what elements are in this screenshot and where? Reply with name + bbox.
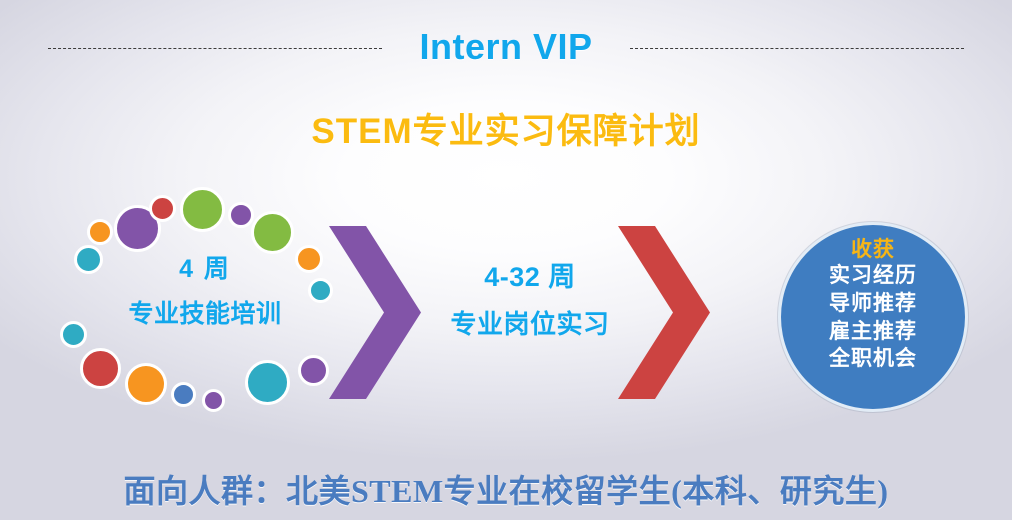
- decorative-dot: [60, 321, 87, 348]
- stage-internship-duration: 4-32 周: [430, 263, 630, 293]
- decorative-dot: [149, 195, 176, 222]
- outcome-circle: 收获 实习经历 导师推荐 雇主推荐 全职机会: [778, 222, 968, 412]
- decorative-dot: [298, 355, 329, 386]
- stage-training-description: 专业技能培训: [95, 301, 315, 329]
- outcome-item-1: 导师推荐: [829, 290, 917, 318]
- decorative-dot: [202, 389, 225, 412]
- chevron-right-red-icon: [618, 226, 710, 399]
- decorative-dot: [245, 360, 290, 405]
- audience-footer: 面向人群：北美STEM专业在校留学生(本科、研究生): [0, 466, 1012, 512]
- outcome-item-2: 雇主推荐: [829, 318, 917, 346]
- outcome-item-0: 实习经历: [829, 262, 917, 290]
- decorative-dot: [251, 211, 294, 254]
- slide-canvas: Intern VIP STEM专业实习保障计划 4 周 专业技能培训 4-32 …: [0, 0, 1012, 520]
- decorative-dot: [80, 348, 121, 389]
- stage-internship: 4-32 周 专业岗位实习: [430, 263, 630, 338]
- stage-training: 4 周 专业技能培训: [95, 256, 315, 328]
- page-title: Intern VIP: [0, 26, 1012, 68]
- decorative-dot: [87, 219, 113, 245]
- outcome-heading: 收获: [851, 238, 895, 262]
- decorative-dot: [125, 363, 167, 405]
- decorative-dot: [180, 187, 225, 232]
- stage-training-duration: 4 周: [95, 256, 315, 284]
- chevron-right-purple-icon: [329, 226, 421, 399]
- stage-internship-description: 专业岗位实习: [430, 310, 630, 339]
- decorative-dot: [74, 245, 103, 274]
- outcome-item-3: 全职机会: [829, 345, 917, 373]
- decorative-dot: [228, 202, 254, 228]
- decorative-dot: [295, 245, 323, 273]
- decorative-dot: [171, 382, 196, 407]
- page-subtitle: STEM专业实习保障计划: [0, 103, 1012, 154]
